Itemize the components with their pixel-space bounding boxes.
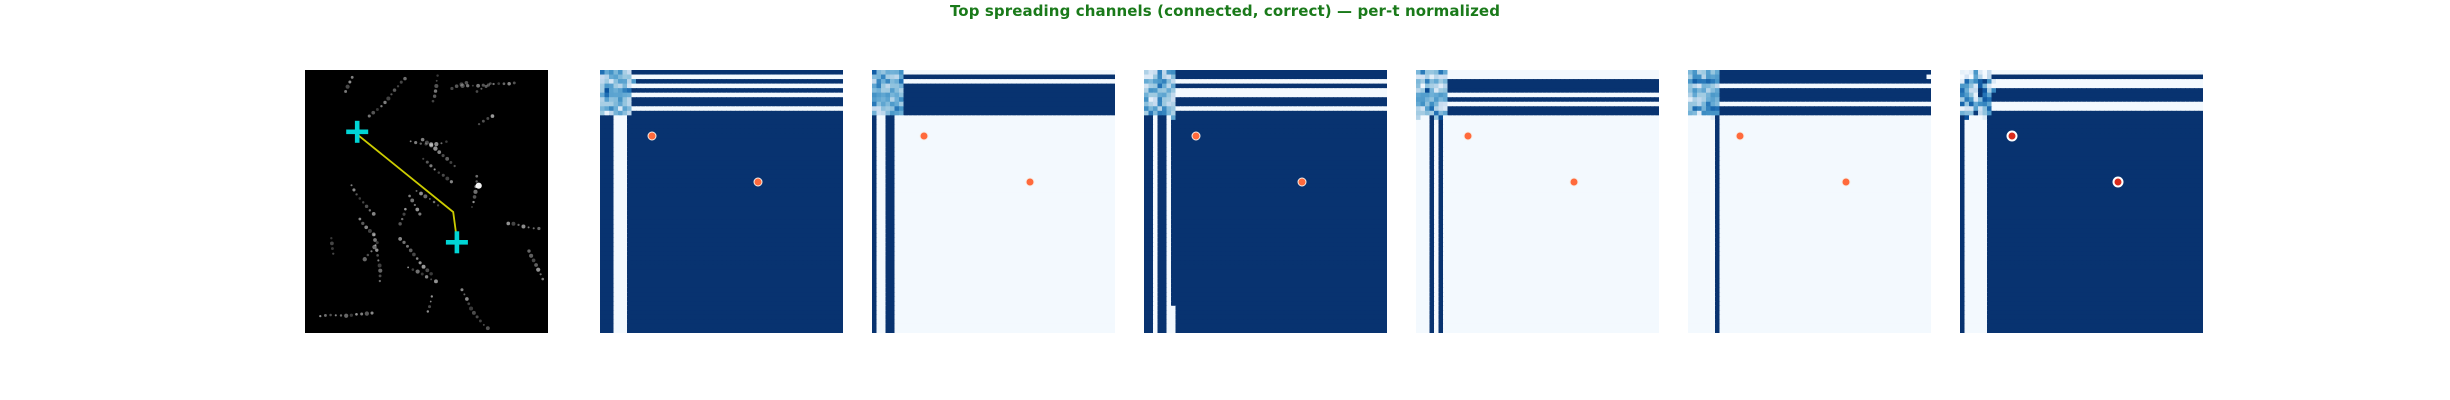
connector-path	[357, 134, 457, 239]
panel-ch27[interactable]: ch27 (s=0.46)	[872, 70, 1115, 333]
noise-render-ch27	[872, 70, 1115, 333]
panel-ch26[interactable]: ch26 (s=0.42)	[1688, 70, 1931, 333]
panel-ch52[interactable]: ch52 (s=0.36)	[1416, 70, 1659, 333]
channel-marker-2	[1841, 177, 1850, 186]
noise-render-ch43	[1144, 70, 1387, 333]
noise-render-ch52	[1416, 70, 1659, 333]
panel-ch43[interactable]: ch43 (s=0.50)	[1144, 70, 1387, 333]
channel-marker-1	[1192, 131, 1201, 140]
filament-streaks	[319, 74, 544, 330]
channel-marker-2	[1297, 177, 1306, 186]
panel-body-ch27	[872, 70, 1115, 333]
panel-body-ch12	[600, 70, 843, 333]
figure-suptitle: Top spreading channels (connected, corre…	[0, 2, 2450, 20]
noise-render-ch26	[1688, 70, 1931, 333]
panel-body-ground-truth	[305, 70, 548, 333]
figure-canvas: Top spreading channels (connected, corre…	[0, 0, 2450, 400]
channel-marker-1	[648, 131, 657, 140]
panel-ch1[interactable]: ch1 (s=0.60)	[1960, 70, 2203, 333]
noise-render-ch1	[1960, 70, 2203, 333]
ground-truth-render	[305, 70, 548, 333]
panel-body-ch52	[1416, 70, 1659, 333]
panel-body-ch43	[1144, 70, 1387, 333]
noise-render-ch12	[600, 70, 843, 333]
channel-marker-1	[2007, 130, 2018, 141]
channel-marker-2	[753, 177, 762, 186]
channel-marker-2	[2112, 176, 2123, 187]
panel-body-ch1	[1960, 70, 2203, 333]
channel-marker-1	[1736, 131, 1745, 140]
channel-marker-1	[920, 131, 929, 140]
channel-marker-1	[1464, 131, 1473, 140]
panel-ground-truth[interactable]: t=8/8	[305, 70, 548, 333]
panel-ch12[interactable]: ch12 (s=0.51)	[600, 70, 843, 333]
channel-marker-2	[1569, 177, 1578, 186]
panel-body-ch26	[1688, 70, 1931, 333]
channel-marker-2	[1025, 177, 1034, 186]
